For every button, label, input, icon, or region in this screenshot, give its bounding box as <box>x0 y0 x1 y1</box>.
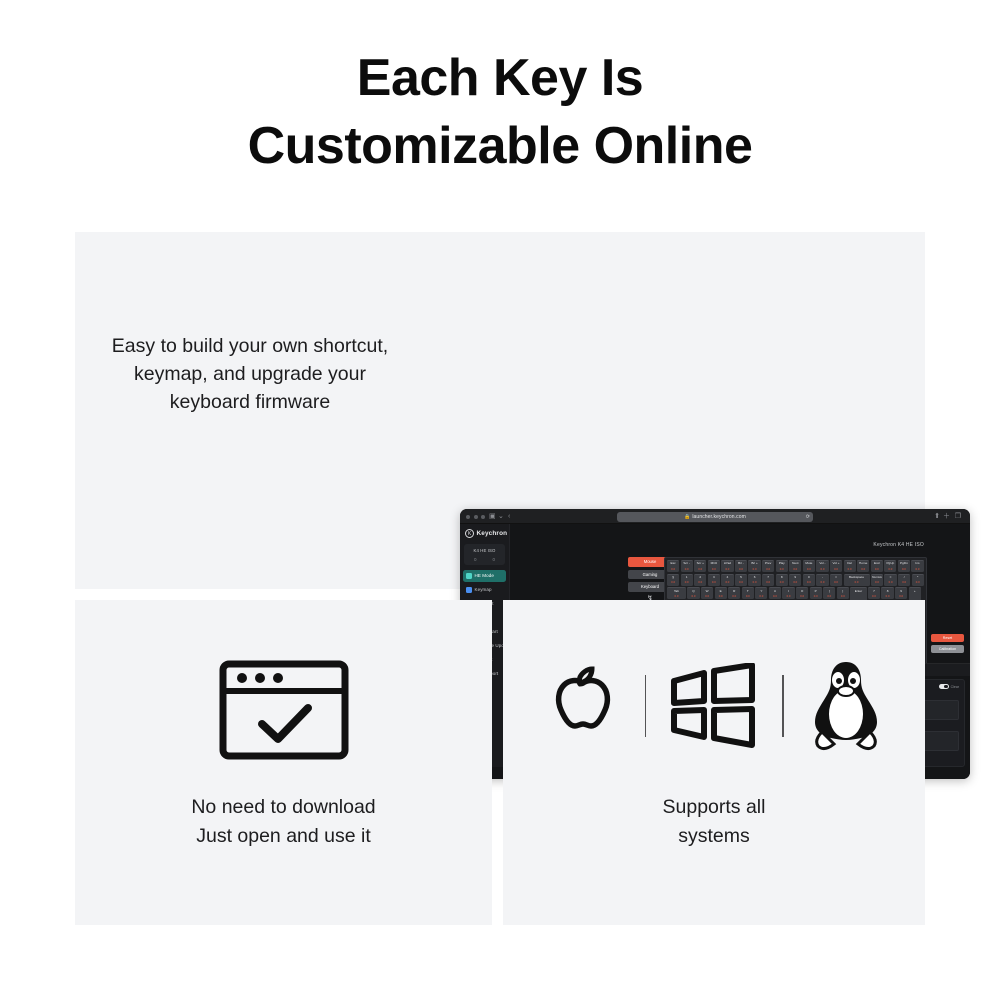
windows-logo-icon <box>668 663 760 749</box>
key-prev[interactable]: Prev0.0 <box>762 560 774 572</box>
key-9[interactable]: 90.0 <box>895 587 907 599</box>
key-label: * <box>917 576 918 579</box>
caption-line-2: systems <box>678 825 750 847</box>
key-label: § <box>672 576 674 579</box>
key-label: = <box>835 576 837 579</box>
new-tab-icon[interactable]: ＋ <box>943 513 950 521</box>
key-label: 4 <box>727 576 729 579</box>
mode-button-label: Mouse <box>644 559 657 564</box>
device-stat-left: 0 <box>474 557 477 562</box>
divider-2 <box>782 675 784 737</box>
key-value: 0.0 <box>814 594 818 598</box>
test-keys-toggle-group[interactable]: Clear <box>939 684 959 689</box>
key-value: 0.0 <box>725 580 729 584</box>
key--[interactable]: =0.0 <box>884 574 896 586</box>
key-value: 0.0 <box>916 580 920 584</box>
key-scr-[interactable]: Scr +0.0 <box>694 560 706 572</box>
key-value: 0.0 <box>889 580 893 584</box>
key-label: ] <box>842 590 843 593</box>
key-label: / <box>904 576 905 579</box>
key--[interactable]: =0.0 <box>830 574 842 586</box>
key-label: P <box>815 590 817 593</box>
key-label: 8 <box>781 576 783 579</box>
key-next[interactable]: Next0.0 <box>789 560 801 572</box>
key-label: 3 <box>713 576 715 579</box>
back-icon[interactable]: ‹ <box>508 513 510 521</box>
key-4[interactable]: 40.0 <box>721 574 733 586</box>
device-name: K4 HE ISO <box>466 548 503 553</box>
feature-card-no-download: No need to download Just open and use it <box>75 600 492 925</box>
app-brand: K Keychron <box>460 524 509 538</box>
address-bar-url: launcher.keychron.com <box>692 514 746 520</box>
headline-line-1: Each Key Is <box>357 49 643 107</box>
key-tab[interactable]: Tab0.0 <box>667 587 686 599</box>
key-label: [ <box>829 590 830 593</box>
he-mode-icon <box>466 573 472 579</box>
key-label: Mute <box>805 562 812 565</box>
key-label: T <box>747 590 749 593</box>
keyboard-row: §0.010.020.030.040.050.060.070.080.090.0… <box>667 574 924 586</box>
key-bri-[interactable]: Bri +0.0 <box>748 560 760 572</box>
key-label: = <box>890 576 892 579</box>
key-label: PgUp <box>886 562 894 565</box>
key-vol-[interactable]: Vol -0.0 <box>816 560 828 572</box>
key-value: 0.0 <box>725 567 729 571</box>
sidebar-item-label: HE Mode <box>475 573 494 578</box>
key-esc[interactable]: Esc0.0 <box>667 560 679 572</box>
key-y[interactable]: Y0.0 <box>755 587 767 599</box>
key-value: 0.0 <box>807 580 811 584</box>
key-label: O <box>801 590 803 593</box>
key-value: 0.0 <box>739 567 743 571</box>
key-label: U <box>774 590 776 593</box>
feature-card-top-text: Easy to build your own shortcut, keymap,… <box>105 332 395 416</box>
key-3[interactable]: 30.0 <box>708 574 720 586</box>
key-mute[interactable]: Mute0.0 <box>803 560 815 572</box>
key-numlk[interactable]: NumLk0.0 <box>871 574 883 586</box>
key-value: 0.0 <box>698 580 702 584</box>
sidebar-item-he-mode[interactable]: HE Mode <box>463 570 506 583</box>
key-label: Y <box>760 590 762 593</box>
key-label: 0 <box>808 576 810 579</box>
key-6[interactable]: 60.0 <box>748 574 760 586</box>
key-value: 0.0 <box>753 567 757 571</box>
key-value: 0.0 <box>705 594 709 598</box>
sidebar-item-label: Keymap <box>475 587 492 592</box>
key-label: Play <box>779 562 785 565</box>
keyboard-action-buttons: ResetCalibration <box>931 634 964 655</box>
key-value: 0.0 <box>861 567 865 571</box>
key-label: 6 <box>754 576 756 579</box>
chevron-down-icon[interactable]: ⌄ <box>498 513 504 521</box>
supports-all-systems-caption: Supports all systems <box>503 793 925 851</box>
calibration-button[interactable]: Calibration <box>931 645 964 653</box>
key-value: 0.0 <box>875 580 879 584</box>
key-label: NumLk <box>872 576 882 579</box>
key-label: Vol + <box>833 562 840 565</box>
key-7[interactable]: 70.0 <box>762 574 774 586</box>
no-download-caption: No need to download Just open and use it <box>75 793 492 851</box>
device-stat-right: 0 <box>492 557 495 562</box>
key-label: Next <box>792 562 798 565</box>
browser-check-icon-wrap <box>75 658 492 762</box>
key-scr-[interactable]: Scr -0.0 <box>681 560 693 572</box>
key-8[interactable]: 80.0 <box>881 587 893 599</box>
key-value: 0.0 <box>671 580 675 584</box>
key-value: 0.0 <box>685 580 689 584</box>
keychron-logo-icon: K <box>465 529 474 538</box>
key-2[interactable]: 20.0 <box>694 574 706 586</box>
key-value: 0.0 <box>719 594 723 598</box>
key-value: 0.0 <box>766 580 770 584</box>
key-label: Del <box>847 562 852 565</box>
key-value: 0.0 <box>793 580 797 584</box>
app-brand-name: Keychron <box>477 530 508 537</box>
key-label: R <box>733 590 735 593</box>
key-end[interactable]: End0.0 <box>871 560 883 572</box>
key-del[interactable]: Del0.0 <box>844 560 856 572</box>
headline-line-2: Customizable Online <box>0 112 1000 180</box>
key-value: 0.0 <box>671 567 675 571</box>
key-value: 0.0 <box>841 594 845 598</box>
key-u[interactable]: U0.0 <box>769 587 781 599</box>
key-value: 0.0 <box>746 594 750 598</box>
key-value: 0.0 <box>855 580 859 584</box>
key-label: Backspace <box>849 576 864 579</box>
caption-line-1: No need to download <box>191 796 375 818</box>
caption-line-2: Just open and use it <box>196 825 371 847</box>
key--[interactable]: [0.0 <box>823 587 835 599</box>
key--[interactable]: /0.0 <box>898 574 910 586</box>
sidebar-item-keymap[interactable]: Keymap <box>463 584 506 597</box>
key-label: Scr - <box>683 562 690 565</box>
key-mctl[interactable]: MCtl0.0 <box>708 560 720 572</box>
refresh-icon[interactable]: ⟳ <box>806 514 810 520</box>
keymap-icon <box>466 587 472 593</box>
key-bri-[interactable]: Bri -0.0 <box>735 560 747 572</box>
key-label: + <box>914 590 916 593</box>
reset-button[interactable]: Reset <box>931 634 964 642</box>
keyboard-title: Keychron K4 HE ISO <box>873 542 924 548</box>
browser-chrome: ▣ ⌄ ‹ 🔒 launcher.keychron.com ⟳ ⬆ ＋ ❐ <box>460 509 970 524</box>
key-value: 0.0 <box>807 567 811 571</box>
key-5[interactable]: 50.0 <box>735 574 747 586</box>
key-value: 0.0 <box>827 594 831 598</box>
key-value: 0.0 <box>916 567 920 571</box>
key-value: 0.0 <box>759 594 763 598</box>
toggle-switch[interactable] <box>939 684 949 689</box>
key-label: PgDn <box>900 562 908 565</box>
key-value: 0.0 <box>780 580 784 584</box>
key-value: 0.0 <box>902 567 906 571</box>
key-label: 9 <box>900 590 902 593</box>
key-value: 0.0 <box>834 567 838 571</box>
caption-line-1: Supports all <box>663 796 766 818</box>
key-1[interactable]: 10.0 <box>681 574 693 586</box>
tab-overview-icon[interactable]: ❐ <box>955 513 961 521</box>
key-label: 5 <box>740 576 742 579</box>
key-value: 0.0 <box>821 567 825 571</box>
key-label: - <box>822 576 823 579</box>
key-value: 0.0 <box>780 567 784 571</box>
key-value: 0.0 <box>675 594 679 598</box>
key-label: 9 <box>794 576 796 579</box>
key-value: 0.0 <box>692 594 696 598</box>
share-icon[interactable]: ⬆ <box>934 513 940 521</box>
key-label: Ins <box>915 562 919 565</box>
key-value: 0.0 <box>872 594 876 598</box>
key-value: 0.0 <box>685 567 689 571</box>
key-q[interactable]: Q0.0 <box>687 587 699 599</box>
key-value: 0.0 <box>698 567 702 571</box>
key-vol-[interactable]: Vol +0.0 <box>830 560 842 572</box>
key-value: 0.0 <box>793 567 797 571</box>
key-value: 0.0 <box>800 594 804 598</box>
key-label: Prev <box>765 562 771 565</box>
key--[interactable]: -0.0 <box>816 574 828 586</box>
key-label: 7 <box>873 590 875 593</box>
key-value: 0.0 <box>787 594 791 598</box>
key-r[interactable]: R0.0 <box>728 587 740 599</box>
key-value: 0.0 <box>766 567 770 571</box>
key-value: 0.0 <box>875 567 879 571</box>
key-o[interactable]: O0.0 <box>796 587 808 599</box>
key-backspace[interactable]: Backspace0.0 <box>844 574 870 586</box>
clear-label[interactable]: Clear <box>951 685 959 689</box>
key-label: Tab <box>674 590 679 593</box>
key-value: 0.0 <box>712 580 716 584</box>
os-logo-row <box>503 658 925 754</box>
key-label: 2 <box>699 576 701 579</box>
address-bar[interactable]: 🔒 launcher.keychron.com ⟳ <box>617 512 813 522</box>
key-label: W <box>706 590 709 593</box>
linux-penguin-icon <box>806 658 886 754</box>
key-t[interactable]: T0.0 <box>742 587 754 599</box>
key-7[interactable]: 70.0 <box>868 587 880 599</box>
page-title: Each Key Is Customizable Online <box>0 44 1000 180</box>
key-value: 0.0 <box>848 567 852 571</box>
key-8[interactable]: 80.0 <box>776 574 788 586</box>
key-label: Scr + <box>697 562 704 565</box>
key-label: 7 <box>767 576 769 579</box>
mode-button-label: Keyboard <box>641 584 659 589</box>
lock-icon: 🔒 <box>684 514 690 520</box>
key-value: 0.0 <box>886 594 890 598</box>
key-label: Esc <box>671 562 676 565</box>
key-label: I <box>788 590 789 593</box>
key-label: LPad <box>724 562 731 565</box>
key-lpad[interactable]: LPad0.0 <box>721 560 733 572</box>
key--[interactable]: *0.0 <box>912 574 924 586</box>
key-home[interactable]: Home0.0 <box>857 560 869 572</box>
key-label: Q <box>692 590 694 593</box>
key-label: E <box>720 590 722 593</box>
key-label: 1 <box>686 576 688 579</box>
key-e[interactable]: E0.0 <box>715 587 727 599</box>
key-9[interactable]: 90.0 <box>789 574 801 586</box>
feature-card-top: Easy to build your own shortcut, keymap,… <box>75 232 925 589</box>
key-0[interactable]: 00.0 <box>803 574 815 586</box>
key-value: 0.0 <box>773 594 777 598</box>
mode-button-label: Gaming <box>643 572 658 577</box>
key-value: 0.0 <box>732 594 736 598</box>
window-traffic-lights[interactable] <box>466 515 485 519</box>
sidebar-icon[interactable]: ▣ <box>489 513 496 521</box>
device-stats: 0 0 <box>466 557 503 562</box>
apple-logo-icon <box>543 661 623 751</box>
key-label: Enter <box>855 590 862 593</box>
key-pgdn[interactable]: PgDn0.0 <box>898 560 910 572</box>
key-label: Home <box>859 562 867 565</box>
key-play[interactable]: Play0.0 <box>776 560 788 572</box>
page-root: Each Key Is Customizable Online Easy to … <box>0 0 1000 1000</box>
key-label: Vol - <box>819 562 825 565</box>
key-i[interactable]: I0.0 <box>782 587 794 599</box>
key-ins[interactable]: Ins0.0 <box>911 560 923 572</box>
key-value: 0.0 <box>821 580 825 584</box>
divider-1 <box>645 675 647 737</box>
key-w[interactable]: W0.0 <box>701 587 713 599</box>
feature-card-supports-all-systems: Supports all systems <box>503 600 925 925</box>
key--[interactable]: §0.0 <box>667 574 679 586</box>
key-label: 8 <box>887 590 889 593</box>
key-value: 0.0 <box>899 594 903 598</box>
key-pgup[interactable]: PgUp0.0 <box>884 560 896 572</box>
keyboard-row: Esc0.0Scr -0.0Scr +0.0MCtl0.0LPad0.0Bri … <box>667 560 924 572</box>
key-value: 0.0 <box>888 567 892 571</box>
key-label: MCtl <box>711 562 717 565</box>
key--[interactable]: ]0.0 <box>837 587 849 599</box>
key-value: 0.0 <box>902 580 906 584</box>
key-label: Bri - <box>738 562 744 565</box>
key-value: 0.0 <box>753 580 757 584</box>
key-label: End <box>874 562 880 565</box>
key-value: 0.0 <box>739 580 743 584</box>
key-value: 0.0 <box>834 580 838 584</box>
key-label: Bri + <box>751 562 757 565</box>
key-value: 0.0 <box>712 567 716 571</box>
device-card[interactable]: K4 HE ISO 0 0 <box>464 544 505 565</box>
key-p[interactable]: P0.0 <box>810 587 822 599</box>
browser-check-icon <box>218 658 350 762</box>
